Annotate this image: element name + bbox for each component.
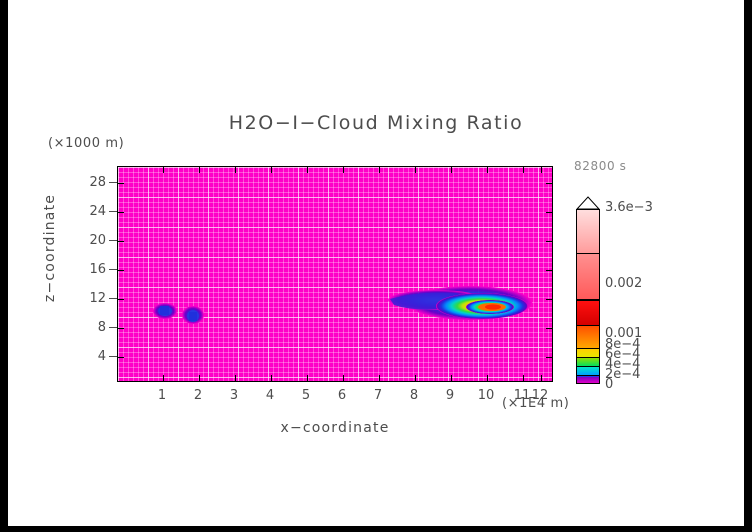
x-tick-2 [199, 375, 200, 381]
cbar-band-zero [577, 377, 599, 384]
z-tick-4 [118, 357, 124, 358]
z-tick-label-8: 8 [66, 320, 106, 335]
x-tick-4 [271, 375, 272, 381]
x-tick-label-4: 4 [250, 388, 290, 403]
z-tick-12 [118, 299, 124, 300]
colorbar-label-0002: 0.002 [605, 276, 642, 291]
x-tick-5 [307, 375, 308, 381]
z-tick-right-28 [546, 183, 552, 184]
colorbar-overflow-arrow-icon [576, 196, 600, 210]
z-tick-20 [118, 241, 124, 242]
x-tick-top-3 [235, 167, 236, 173]
z-tick-right-12 [546, 299, 552, 300]
x-tick-top-10 [487, 167, 488, 173]
x-tick-top-1 [163, 167, 164, 173]
z-outer-tick-16 [109, 269, 117, 270]
x-tick-3 [235, 375, 236, 381]
small-blob-left [153, 303, 177, 319]
x-tick-11 [523, 375, 524, 381]
x-tick-label-1: 1 [142, 388, 182, 403]
colorbar-label-zero: 0 [605, 377, 613, 392]
x-tick-top-6 [343, 167, 344, 173]
z-outer-tick-12 [109, 298, 117, 299]
x-tick-6 [343, 375, 344, 381]
x-tick-top-5 [307, 167, 308, 173]
main-cloud [388, 286, 532, 320]
z-outer-tick-20 [109, 240, 117, 241]
x-tick-7 [379, 375, 380, 381]
x-tick-10 [487, 375, 488, 381]
z-tick-right-24 [546, 212, 552, 213]
x-tick-top-11 [523, 167, 524, 173]
page-title: H2O−I−Cloud Mixing Ratio [8, 112, 744, 134]
z-tick-right-20 [546, 241, 552, 242]
cbar-band-red [577, 301, 599, 325]
x-tick-label-9: 9 [430, 388, 470, 403]
cbar-band-salmon [577, 254, 599, 299]
x-tick-top-12 [541, 167, 542, 173]
z-tick-label-28: 28 [66, 175, 106, 190]
x-axis-title: x−coordinate [117, 420, 553, 436]
z-tick-label-24: 24 [66, 204, 106, 219]
colorbar-label-max: 3.6e−3 [605, 200, 653, 215]
heatmap-plot-area [117, 166, 553, 382]
cbar-band-top [577, 210, 599, 253]
colorbar-gradient [576, 209, 600, 384]
z-outer-tick-8 [109, 327, 117, 328]
x-tick-label-6: 6 [322, 388, 362, 403]
z-outer-tick-28 [109, 182, 117, 183]
x-tick-top-2 [199, 167, 200, 173]
y-axis-unit-label: (×1000 m) [48, 136, 124, 151]
x-tick-1 [163, 375, 164, 381]
z-outer-tick-4 [109, 356, 117, 357]
x-tick-label-5: 5 [286, 388, 326, 403]
x-tick-top-4 [271, 167, 272, 173]
x-tick-8 [415, 375, 416, 381]
z-tick-label-4: 4 [66, 349, 106, 364]
x-tick-top-8 [415, 167, 416, 173]
cloud-field [118, 167, 552, 381]
x-tick-top-9 [451, 167, 452, 173]
cbar-band-4e4 [577, 367, 599, 375]
figure-canvas: H2O−I−Cloud Mixing Ratio (×1000 m) 82800… [8, 0, 744, 526]
y-axis-title: z−coordinate [42, 168, 58, 328]
cbar-band-orange [577, 326, 599, 348]
x-tick-label-3: 3 [214, 388, 254, 403]
z-tick-right-16 [546, 270, 552, 271]
z-tick-label-16: 16 [66, 262, 106, 277]
x-tick-label-10: 10 [466, 388, 506, 403]
x-tick-9 [451, 375, 452, 381]
timestamp-label: 82800 s [574, 159, 626, 173]
z-tick-24 [118, 212, 124, 213]
cbar-band-6e4 [577, 358, 599, 366]
x-tick-12 [541, 375, 542, 381]
z-tick-8 [118, 328, 124, 329]
z-tick-right-8 [546, 328, 552, 329]
cbar-band-8e4 [577, 349, 599, 357]
z-tick-16 [118, 270, 124, 271]
z-tick-right-4 [546, 357, 552, 358]
z-tick-28 [118, 183, 124, 184]
colorbar [576, 196, 600, 384]
x-tick-top-7 [379, 167, 380, 173]
x-tick-label-2: 2 [178, 388, 218, 403]
z-outer-tick-24 [109, 211, 117, 212]
z-tick-label-12: 12 [66, 291, 106, 306]
x-axis-unit-label: (×1E4 m) [502, 396, 569, 411]
x-tick-label-7: 7 [358, 388, 398, 403]
z-tick-label-20: 20 [66, 233, 106, 248]
small-blob-mid [182, 306, 204, 324]
x-tick-label-8: 8 [394, 388, 434, 403]
